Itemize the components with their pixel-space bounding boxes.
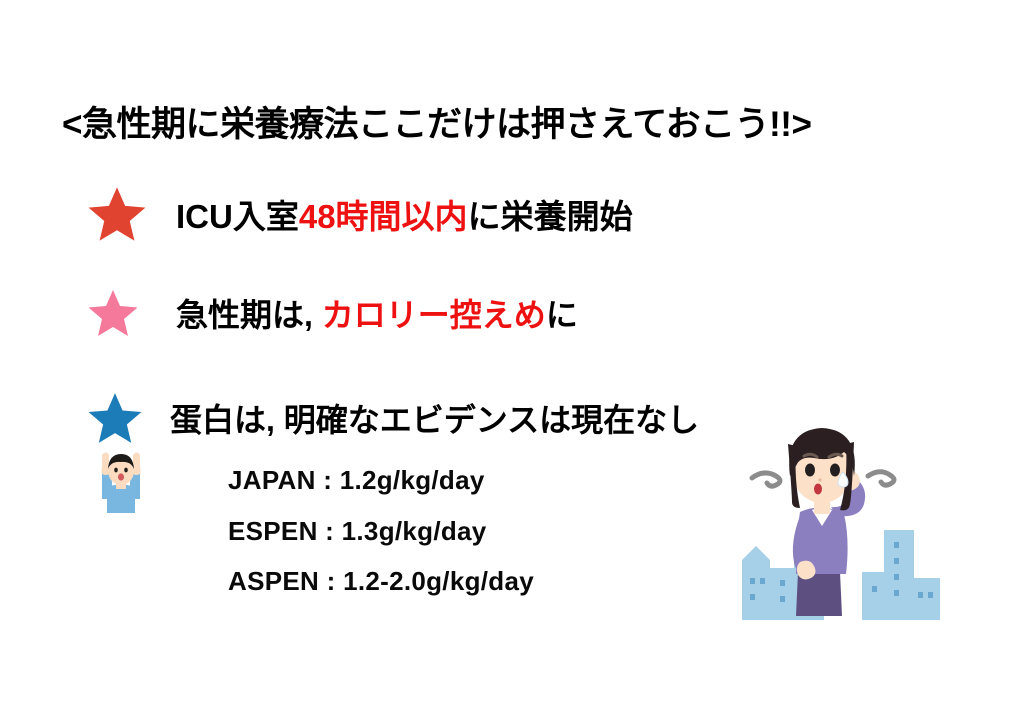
bullet-text-2: 急性期は, カロリー控えめに xyxy=(176,290,578,336)
bullet-1-segment-1: ICU入室 xyxy=(176,198,299,235)
cheer-left-eye xyxy=(114,468,118,473)
bullet-2-segment-3: に xyxy=(546,297,578,333)
pink-star-shape xyxy=(89,290,138,336)
cheer-right-eye xyxy=(124,468,128,473)
cheer-mouth xyxy=(118,473,124,480)
woman-right-eye xyxy=(830,464,840,477)
bullet-2-segment-2-highlight: カロリー控えめ xyxy=(322,297,546,333)
woman-left-eye xyxy=(805,464,815,477)
bullet-1-segment-3: に栄養開始 xyxy=(468,198,633,235)
slide-canvas: <急性期に栄養療法ここだけは押さえておこう!!> ICU入室48時間以内に栄養開… xyxy=(0,0,1024,724)
bullet-text-1: ICU入室48時間以内に栄養開始 xyxy=(176,190,633,238)
woman-nose xyxy=(818,478,821,481)
bullet-row-1: ICU入室48時間以内に栄養開始 xyxy=(88,186,633,242)
cheering-person-illustration xyxy=(88,443,154,519)
bullet-text-3: 蛋白は, 明確なエビデンスは現在なし xyxy=(170,395,699,441)
building-1-roof xyxy=(742,546,770,560)
building-6 xyxy=(910,578,940,620)
red-star-icon xyxy=(88,186,146,242)
blue-star-shape xyxy=(89,393,142,443)
confused-woman-illustration xyxy=(742,420,942,620)
bullet-1-segment-2-highlight: 48時間以内 xyxy=(299,198,468,235)
sub-item-japan: JAPAN : 1.2g/kg/day xyxy=(228,465,485,496)
building-1 xyxy=(742,560,770,620)
sub-item-aspen: ASPEN : 1.2-2.0g/kg/day xyxy=(228,566,534,597)
page-title: <急性期に栄養療法ここだけは押さえておこう!!> xyxy=(62,106,811,145)
sub-item-espen: ESPEN : 1.3g/kg/day xyxy=(228,516,487,547)
red-star-shape xyxy=(89,187,146,240)
bullet-row-3: 蛋白は, 明確なエビデンスは現在なし xyxy=(88,392,699,444)
woman-mouth xyxy=(814,484,822,495)
pink-star-icon xyxy=(88,289,138,337)
bullet-row-2: 急性期は, カロリー控えめに xyxy=(88,289,578,337)
bullet-3-segment-1: 蛋白は, 明確なエビデンスは現在なし xyxy=(170,402,699,438)
building-2 xyxy=(768,568,798,620)
blue-star-icon xyxy=(88,392,142,444)
bullet-2-segment-1: 急性期は, xyxy=(176,297,322,333)
